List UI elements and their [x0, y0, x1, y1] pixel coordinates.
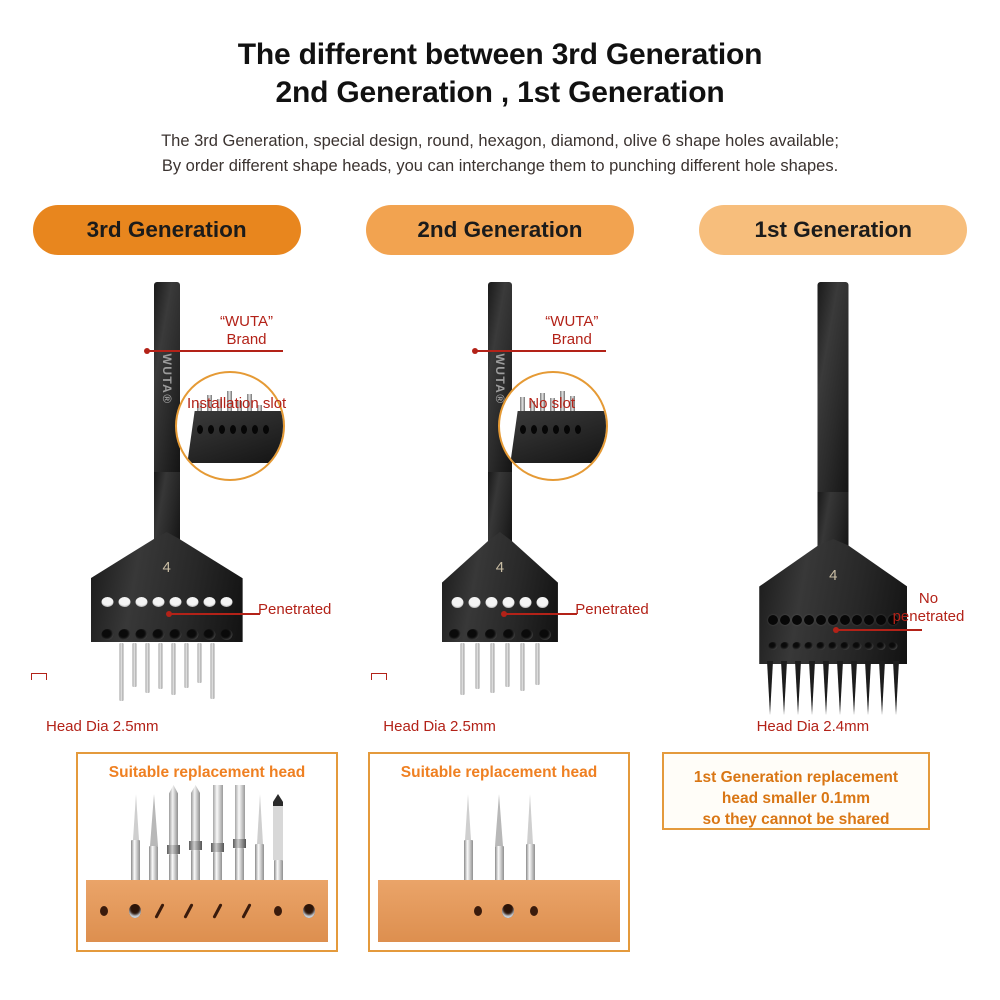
- page-title: The different between 3rd Generation 2nd…: [0, 0, 1000, 113]
- annotation-brand: “WUTA” Brand: [545, 313, 598, 349]
- pin: [158, 643, 162, 689]
- tip-cone: [495, 794, 503, 846]
- socket: [539, 629, 551, 640]
- socket-row: [449, 629, 551, 640]
- socket: [203, 629, 215, 640]
- socket-row: [101, 629, 232, 640]
- replacement-box-3rd-generation: Suitable replacement head: [76, 752, 338, 952]
- leader-no-penetrated: [837, 629, 922, 631]
- pin: [490, 643, 494, 693]
- pin: [171, 643, 175, 695]
- pin: [184, 643, 188, 688]
- tip-olive: [273, 794, 283, 860]
- collar: [167, 845, 180, 854]
- tine-row: [767, 661, 899, 715]
- column-1st-generation: 1st Generation 4 No penetrated Head Dia …: [667, 205, 1000, 745]
- annotation-penetrated: Penetrated: [258, 601, 331, 619]
- socket: [829, 642, 838, 650]
- punched-hole: [474, 906, 482, 916]
- tine: [879, 661, 885, 715]
- tine: [823, 661, 829, 715]
- leather-strip: [86, 880, 328, 942]
- penetrated-hole: [118, 597, 130, 607]
- subtitle-line-2: By order different shape heads, you can …: [0, 154, 1000, 180]
- annotation-brand-line2: Brand: [545, 331, 598, 349]
- tool-head-plate: [91, 532, 243, 642]
- pin: [132, 643, 136, 687]
- socket: [889, 642, 898, 650]
- non-penetrated-hole: [852, 615, 862, 625]
- socket: [186, 629, 198, 640]
- collar: [233, 839, 246, 848]
- replacement-head: [189, 785, 202, 890]
- non-penetrated-hole: [792, 615, 802, 625]
- punched-hole: [241, 903, 251, 919]
- leader-penetrated: [170, 613, 260, 615]
- annotation-brand-line1: “WUTA”: [220, 313, 273, 331]
- socket: [805, 642, 814, 650]
- penetrated-hole: [203, 597, 215, 607]
- non-penetrated-hole: [876, 615, 886, 625]
- penetrated-hole: [101, 597, 113, 607]
- socket: [467, 629, 479, 640]
- tine: [851, 661, 857, 715]
- tip-needle: [257, 794, 263, 844]
- pin: [145, 643, 149, 693]
- replacement-head: [233, 785, 246, 890]
- annotation-head-dia: Head Dia 2.4mm: [757, 718, 870, 736]
- replacement-box-2nd-generation: Suitable replacement head: [368, 752, 630, 952]
- tip-needle: [133, 794, 139, 840]
- replacement-head: [131, 794, 140, 890]
- replacement-head: [211, 785, 224, 890]
- punched-hole: [303, 904, 315, 918]
- annotation-installation-slot: Installation slot: [187, 395, 286, 413]
- non-penetrated-hole: [840, 615, 850, 625]
- socket: [865, 642, 874, 650]
- socket: [152, 629, 164, 640]
- replacement-head-set: [370, 790, 628, 890]
- collar: [211, 843, 224, 852]
- subtitle-line-1: The 3rd Generation, special design, roun…: [161, 132, 839, 150]
- socket: [101, 629, 113, 640]
- tine: [865, 661, 871, 715]
- annotation-head-dia: Head Dia 2.5mm: [46, 718, 159, 736]
- socket: [769, 642, 778, 650]
- pin: [520, 643, 524, 691]
- annotation-no-penetrated: No penetrated: [893, 590, 965, 626]
- pill-3rd-generation[interactable]: 3rd Generation: [33, 205, 301, 255]
- pin-row: [460, 643, 539, 695]
- dimension-bracket: [371, 673, 387, 680]
- annotation-head-dia: Head Dia 2.5mm: [383, 718, 496, 736]
- head-number: 4: [496, 559, 504, 576]
- penetrated-hole: [152, 597, 164, 607]
- tool-handle: [818, 282, 849, 497]
- head-number: 4: [829, 567, 837, 584]
- tine: [795, 661, 801, 715]
- annotation-penetrated: Penetrated: [575, 601, 648, 619]
- note-line-1: 1st Generation replacement: [672, 768, 920, 789]
- punched-hole: [154, 903, 164, 919]
- punched-holes: [86, 880, 328, 942]
- non-penetrated-hole: [768, 615, 778, 625]
- pill-2nd-generation[interactable]: 2nd Generation: [366, 205, 634, 255]
- replacement-head: [167, 785, 180, 890]
- tine: [837, 661, 843, 715]
- annotation-no-slot: No slot: [528, 395, 575, 413]
- replacement-head: [464, 794, 473, 890]
- column-2nd-generation: 2nd Generation WUTA® 4: [333, 205, 666, 745]
- leader-penetrated: [505, 613, 577, 615]
- socket: [118, 629, 130, 640]
- replacement-head: [255, 794, 264, 890]
- tine: [781, 661, 787, 715]
- socket: [449, 629, 461, 640]
- tine: [893, 661, 899, 715]
- penetrated-hole: [485, 597, 497, 608]
- annotation-brand-line1: “WUTA”: [545, 313, 598, 331]
- tip-needle: [527, 794, 533, 844]
- socket: [503, 629, 515, 640]
- non-penetrated-hole-row: [768, 615, 898, 625]
- head-number: 4: [162, 559, 170, 576]
- socket: [841, 642, 850, 650]
- socket: [485, 629, 497, 640]
- socket: [135, 629, 147, 640]
- comparison-columns: 3rd Generation WUTA® 4: [0, 205, 1000, 745]
- punched-hole: [100, 906, 108, 916]
- note-line-3: so they cannot be shared: [672, 810, 920, 831]
- note-box-1st-generation: 1st Generation replacement head smaller …: [662, 752, 930, 830]
- column-3rd-generation: 3rd Generation WUTA® 4: [0, 205, 333, 745]
- infographic-page: The different between 3rd Generation 2nd…: [0, 0, 1000, 1000]
- penetrated-hole: [502, 597, 514, 608]
- punched-hole: [274, 906, 282, 916]
- leader-brand: [476, 350, 606, 352]
- pin: [475, 643, 479, 689]
- punched-holes: [378, 880, 620, 942]
- penetrated-hole-row: [101, 597, 232, 607]
- replacement-head-boxes: Suitable replacement head Suitable repla…: [0, 752, 1000, 962]
- inset-body: [511, 411, 609, 463]
- replacement-head: [273, 794, 283, 890]
- penetrated-hole: [186, 597, 198, 607]
- tip-blade: [169, 785, 178, 845]
- non-penetrated-hole: [816, 615, 826, 625]
- no-slot-inset: [498, 371, 608, 481]
- pin: [505, 643, 509, 687]
- page-subtitle: The 3rd Generation, special design, roun…: [0, 129, 1000, 180]
- socket: [853, 642, 862, 650]
- penetrated-hole: [451, 597, 463, 608]
- annotation-no-penetrated-line2: penetrated: [893, 608, 965, 626]
- tip-cone: [150, 794, 158, 846]
- penetrated-hole: [536, 597, 548, 608]
- punched-hole: [212, 903, 222, 919]
- tool-head-plate: [442, 532, 558, 642]
- tip-tube: [235, 785, 245, 839]
- annotation-brand-line2: Brand: [220, 331, 273, 349]
- replacement-head-set: [78, 790, 336, 890]
- penetrated-hole-row: [451, 597, 548, 608]
- installation-slot-inset: [175, 371, 285, 481]
- pin: [119, 643, 123, 701]
- leader-brand: [148, 350, 283, 352]
- pin-row: [119, 643, 214, 701]
- inset-slot-dots: [520, 425, 581, 434]
- penetrated-hole: [169, 597, 181, 607]
- note-line-2: head smaller 0.1mm: [672, 789, 920, 810]
- penetrated-hole: [220, 597, 232, 607]
- box-title: Suitable replacement head: [370, 754, 628, 782]
- tine: [809, 661, 815, 715]
- replacement-head: [526, 794, 535, 890]
- annotation-no-penetrated-line1: No: [893, 590, 965, 608]
- punched-hole: [502, 904, 514, 918]
- non-penetrated-hole: [828, 615, 838, 625]
- non-penetrated-hole: [804, 615, 814, 625]
- tip-blade: [191, 785, 200, 841]
- pin: [460, 643, 464, 695]
- dimension-bracket: [31, 673, 47, 680]
- tine: [767, 661, 773, 715]
- replacement-head: [149, 794, 158, 890]
- penetrated-hole: [519, 597, 531, 608]
- box-title: Suitable replacement head: [78, 754, 336, 782]
- punched-hole: [183, 903, 193, 919]
- leather-strip: [378, 880, 620, 942]
- socket: [817, 642, 826, 650]
- non-penetrated-hole: [864, 615, 874, 625]
- inset-slot-dots: [197, 425, 269, 434]
- pin: [210, 643, 214, 699]
- title-line-2: 2nd Generation , 1st Generation: [0, 74, 1000, 112]
- socket: [169, 629, 181, 640]
- tip-tube: [213, 785, 223, 843]
- socket: [877, 642, 886, 650]
- collar: [189, 841, 202, 850]
- penetrated-hole: [468, 597, 480, 608]
- pill-1st-generation[interactable]: 1st Generation: [699, 205, 967, 255]
- penetrated-hole: [135, 597, 147, 607]
- socket: [781, 642, 790, 650]
- note-text: 1st Generation replacement head smaller …: [664, 754, 928, 845]
- inset-body: [187, 411, 285, 463]
- annotation-brand: “WUTA” Brand: [220, 313, 273, 349]
- socket: [220, 629, 232, 640]
- punched-hole: [129, 904, 141, 918]
- socket: [521, 629, 533, 640]
- pin: [197, 643, 201, 683]
- socket-row: [769, 642, 898, 650]
- brand-text: WUTA®: [160, 354, 174, 405]
- replacement-head: [495, 794, 504, 890]
- socket: [793, 642, 802, 650]
- title-line-1: The different between 3rd Generation: [238, 38, 763, 71]
- pin: [535, 643, 539, 685]
- non-penetrated-hole: [780, 615, 790, 625]
- punched-hole: [530, 906, 538, 916]
- tip-needle: [465, 794, 471, 840]
